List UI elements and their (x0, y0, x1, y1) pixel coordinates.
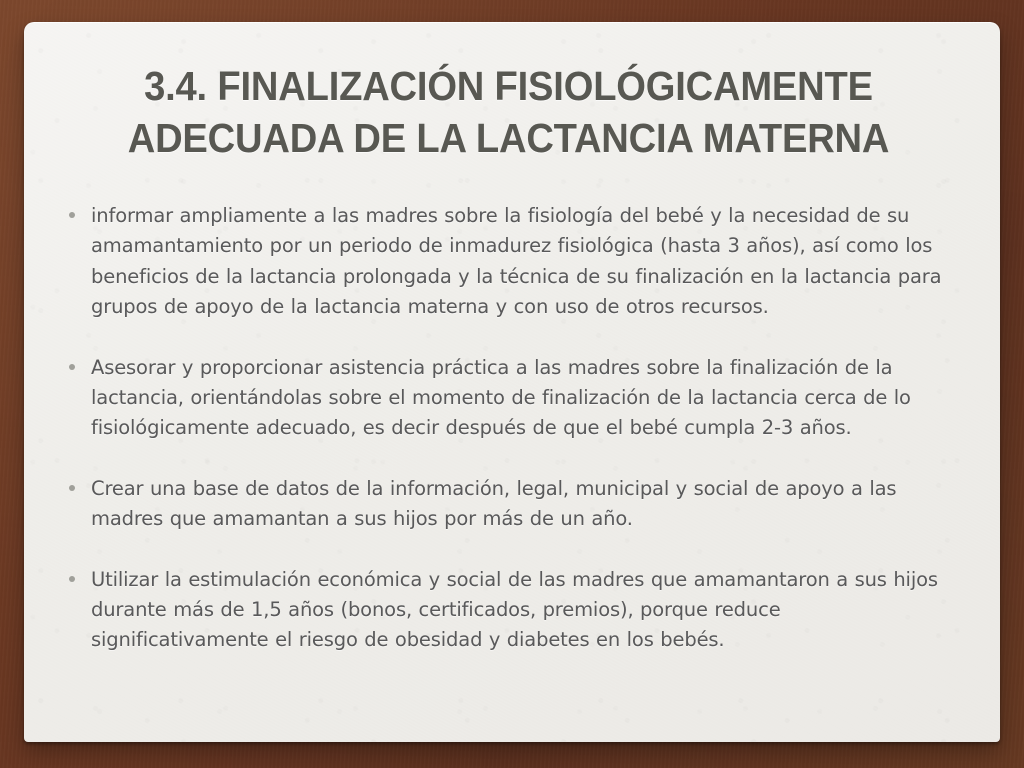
list-item: Crear una base de datos de la informació… (69, 474, 952, 535)
page-title: 3.4. FINALIZACIÓN FISIOLÓGICAMENTE ADECU… (89, 52, 929, 165)
list-item-text: Asesorar y proporcionar asistencia práct… (91, 353, 952, 444)
list-item-text: Utilizar la estimulación económica y soc… (91, 565, 952, 656)
list-item-text: informar ampliamente a las madres sobre … (91, 201, 952, 323)
slide-content: 3.4. FINALIZACIÓN FISIOLÓGICAMENTE ADECU… (24, 22, 1000, 742)
slide-frame: 3.4. FINALIZACIÓN FISIOLÓGICAMENTE ADECU… (0, 0, 1024, 768)
bullet-dot-icon (69, 201, 91, 218)
slide-paper: 3.4. FINALIZACIÓN FISIOLÓGICAMENTE ADECU… (24, 22, 1000, 742)
bullet-dot-icon (69, 353, 91, 370)
bullet-dot-icon (69, 474, 91, 491)
list-item: Asesorar y proporcionar asistencia práct… (69, 353, 952, 444)
bullet-dot-icon (69, 565, 91, 582)
bullet-list: informar ampliamente a las madres sobre … (57, 201, 960, 656)
list-item: Utilizar la estimulación económica y soc… (69, 565, 952, 656)
list-item: informar ampliamente a las madres sobre … (69, 201, 952, 323)
list-item-text: Crear una base de datos de la informació… (91, 474, 952, 535)
